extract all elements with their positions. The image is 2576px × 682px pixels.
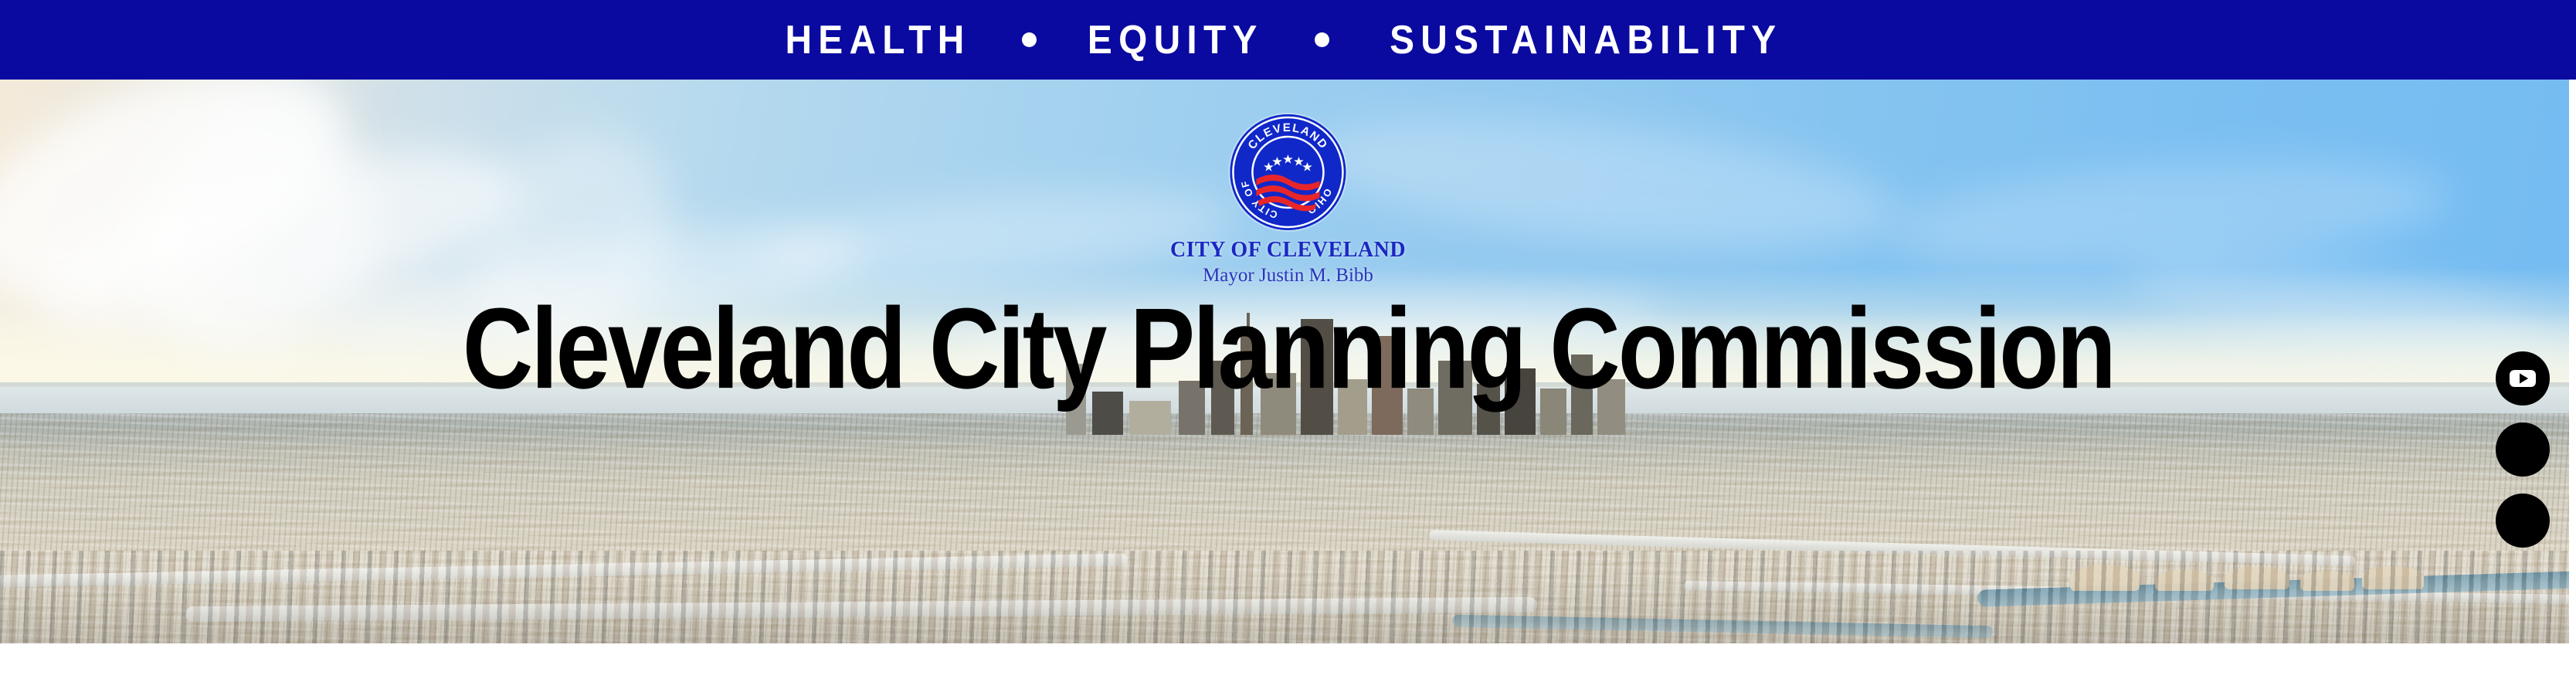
top-banner: HEALTH EQUITY SUSTAINABILITY bbox=[0, 0, 2576, 80]
social-links[interactable] bbox=[2496, 351, 2550, 548]
facebook-link[interactable] bbox=[2496, 494, 2550, 548]
bullet-dot-icon bbox=[1315, 32, 1329, 47]
banner-word-equity: EQUITY bbox=[1088, 20, 1264, 60]
top-banner-content: HEALTH EQUITY SUSTAINABILITY bbox=[777, 20, 1799, 60]
photo-bottom-shade bbox=[0, 574, 2576, 643]
city-branding: CLEVELAND OHIO CITY OF bbox=[1170, 114, 1406, 287]
bullet-dot-icon bbox=[1022, 32, 1037, 47]
mayor-name: Mayor Justin M. Bibb bbox=[1170, 265, 1406, 287]
banner-word-sustainability: SUSTAINABILITY bbox=[1390, 20, 1782, 60]
youtube-icon bbox=[2506, 361, 2540, 395]
organization-name: CITY OF CLEVELAND bbox=[1170, 238, 1406, 263]
facebook-icon bbox=[2506, 504, 2540, 538]
instagram-link[interactable] bbox=[2496, 422, 2550, 477]
city-of-cleveland-seal: CLEVELAND OHIO CITY OF bbox=[1230, 114, 1346, 230]
bottom-white-margin bbox=[0, 643, 2576, 682]
downtown-skyline bbox=[1058, 311, 1645, 435]
youtube-link[interactable] bbox=[2496, 351, 2550, 405]
banner-word-health: HEALTH bbox=[785, 20, 970, 60]
instagram-icon bbox=[2506, 433, 2540, 467]
page-root: HEALTH EQUITY SUSTAINABILITY bbox=[0, 0, 2576, 682]
right-white-margin bbox=[2569, 80, 2576, 643]
